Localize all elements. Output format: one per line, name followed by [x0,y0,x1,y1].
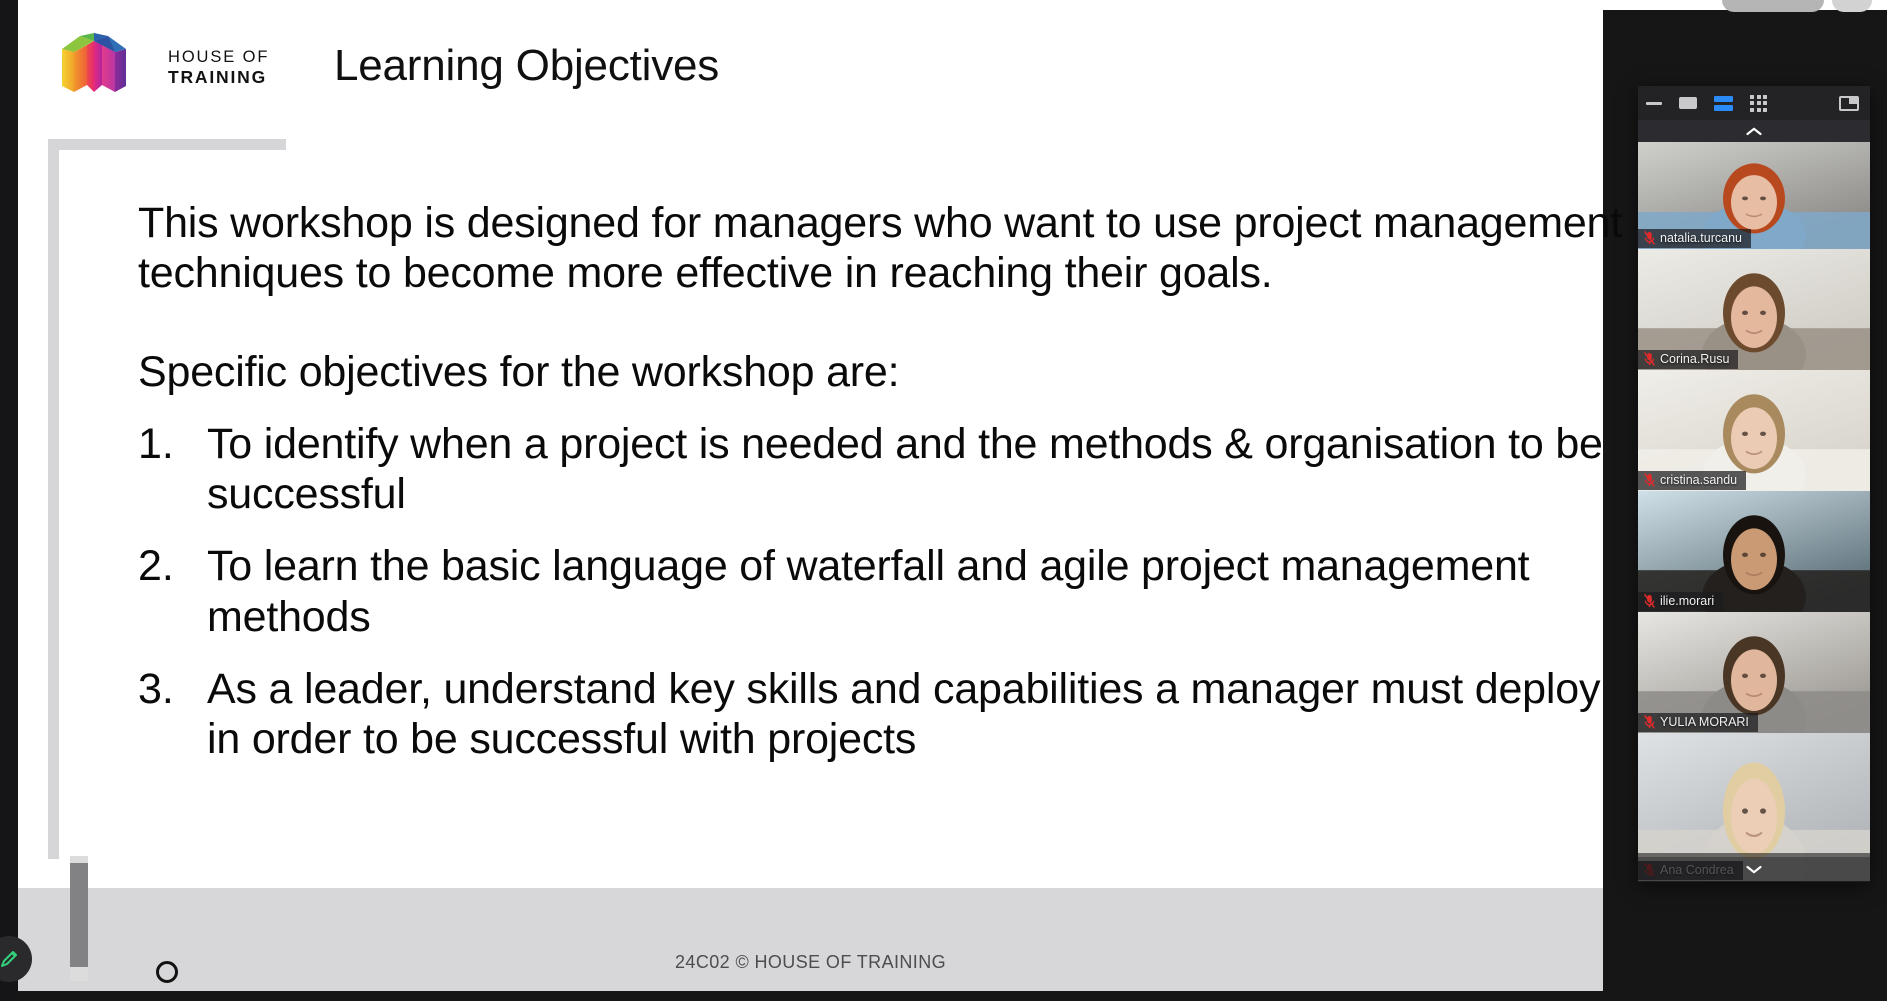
lead-paragraph: This workshop is designed for managers w… [138,198,1698,299]
paragraph-spacer [138,299,1698,347]
brand-line-1: HOUSE OF [168,48,269,67]
slide-footer-text: 24C02 © HOUSE OF TRAINING [18,952,1603,973]
objective-text-3: As a leader, understand key skills and c… [207,664,1698,765]
participant-name: ilie.morari [1660,594,1714,608]
participant-name-bar: Corina.Rusu [1638,350,1738,369]
video-tile-list: natalia.turcanu Corina.Rusu [1638,142,1870,881]
maximize-icon[interactable] [1679,97,1697,109]
mic-muted-icon [1644,352,1655,366]
mic-muted-icon [1644,715,1655,729]
chevron-up-icon [1746,127,1762,136]
participant-name-bar: cristina.sandu [1638,471,1746,490]
objective-text-1: To identify when a project is needed and… [207,419,1698,520]
participant-tile[interactable]: natalia.turcanu [1638,142,1870,249]
brand-wordmark: HOUSE OF TRAINING [168,48,269,88]
objectives-intro: Specific objectives for the workshop are… [138,347,1698,397]
participant-name: Corina.Rusu [1660,352,1729,366]
slide-frame-left [48,139,59,859]
objective-number-2: 2. [138,541,174,591]
participant-tile[interactable]: YULIA MORARI [1638,612,1870,733]
left-dark-gutter [0,0,18,1001]
objective-1-line-2: successful [207,469,1698,519]
slide-footer-band [18,888,1603,991]
objective-number-3: 3. [138,664,174,714]
participant-name: YULIA MORARI [1660,715,1749,729]
objective-item-2: 2. To learn the basic language of waterf… [138,541,1698,642]
lead-line-2: techniques to become more effective in r… [138,248,1698,298]
slide-scrollbar-thumb[interactable] [70,863,88,967]
house-of-training-book-logo [58,30,130,96]
objective-text-2: To learn the basic language of waterfall… [207,541,1698,642]
top-toolbar-secondary-button[interactable] [1832,0,1872,12]
objective-2-line-2: methods [207,592,1698,642]
video-participants-panel[interactable]: natalia.turcanu Corina.Rusu [1638,86,1870,882]
picture-in-picture-icon[interactable] [1839,96,1859,111]
objective-number-1: 1. [138,419,174,469]
lead-line-1: This workshop is designed for managers w… [138,198,1698,248]
screen: HOUSE OF TRAINING Learning Objectives Th… [0,0,1887,1001]
grid-view-icon[interactable] [1750,95,1767,112]
slide-body: This workshop is designed for managers w… [138,198,1698,765]
slide-header: HOUSE OF TRAINING Learning Objectives [18,8,1603,130]
participant-tile[interactable]: Corina.Rusu [1638,249,1870,370]
participant-tile[interactable]: ilie.morari [1638,491,1870,612]
brand-line-2: TRAINING [168,67,269,88]
chevron-down-icon [1746,865,1762,874]
top-toolbar-pill-button[interactable] [1722,0,1824,12]
minimize-icon[interactable] [1646,102,1662,105]
slide-frame-top [48,139,286,150]
objectives-list: 1. To identify when a project is needed … [138,419,1698,765]
participant-tile[interactable]: cristina.sandu [1638,370,1870,491]
objective-3-line-1: As a leader, understand key skills and c… [207,664,1698,714]
participant-name-bar: natalia.turcanu [1638,229,1751,248]
objective-item-1: 1. To identify when a project is needed … [138,419,1698,520]
participant-name: cristina.sandu [1660,473,1737,487]
participant-tile[interactable]: Ana Condrea [1638,733,1870,881]
mic-muted-icon [1644,231,1655,245]
video-scroll-up-button[interactable] [1638,120,1870,142]
video-scroll-down-button[interactable] [1638,857,1870,881]
participant-name: natalia.turcanu [1660,231,1742,245]
objective-3-line-2: in order to be successful with projects [207,714,1698,764]
presentation-slide: HOUSE OF TRAINING Learning Objectives Th… [18,8,1603,991]
mic-muted-icon [1644,594,1655,608]
slide-title: Learning Objectives [334,41,719,91]
objective-2-line-1: To learn the basic language of waterfall… [207,541,1698,591]
mic-muted-icon [1644,473,1655,487]
speaker-view-icon[interactable] [1714,96,1733,111]
participant-name-bar: ilie.morari [1638,592,1723,611]
objective-1-line-1: To identify when a project is needed and… [207,419,1698,469]
participant-name-bar: YULIA MORARI [1638,713,1758,732]
pencil-icon [0,948,20,970]
video-panel-toolbar [1638,86,1870,120]
objective-item-3: 3. As a leader, understand key skills an… [138,664,1698,765]
